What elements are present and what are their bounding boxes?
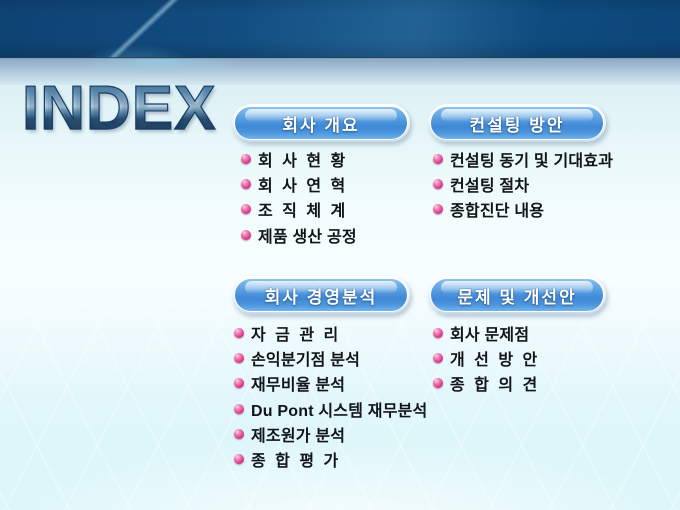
page-title: INDEX (22, 78, 216, 140)
section-heading-problems-improvements[interactable]: 문제 및 개선안 (428, 276, 606, 314)
list-item-label: 종 합 평 가 (251, 450, 341, 473)
bullet-sphere-icon (433, 378, 443, 388)
list-item-label: 컨설팅 동기 및 기대효과 (450, 150, 613, 173)
bullet-sphere-icon (234, 353, 244, 363)
list-item-label: 제품 생산 공정 (258, 226, 357, 249)
list-item-label: 재무비율 분석 (251, 374, 345, 397)
list-item-label: 회사 문제점 (450, 324, 529, 347)
bullet-sphere-icon (241, 230, 251, 240)
bullet-sphere-icon (433, 328, 443, 338)
top-banner (0, 0, 680, 58)
bullet-sphere-icon (433, 353, 443, 363)
list-item[interactable]: 컨설팅 동기 및 기대효과 (433, 150, 613, 173)
pill-inner: 회사 개요 (234, 106, 408, 140)
bullet-sphere-icon (234, 404, 244, 414)
bullet-sphere-icon (241, 154, 251, 164)
section-heading-company-overview[interactable]: 회사 개요 (232, 104, 410, 142)
pill-inner: 문제 및 개선안 (430, 278, 604, 312)
bullet-sphere-icon (234, 328, 244, 338)
list-item[interactable]: 손익분기점 분석 (234, 349, 427, 372)
banner-sheen (240, 0, 540, 58)
pill-inner: 회사 경영분석 (234, 278, 408, 312)
list-item-label: 제조원가 분석 (251, 425, 345, 448)
banner-glow (52, 18, 222, 58)
list-item[interactable]: 재무비율 분석 (234, 374, 427, 397)
list-item-label: 회 사 현 황 (258, 150, 348, 173)
list-item-label: 종합진단 내용 (450, 200, 544, 223)
list-item[interactable]: 컨설팅 절차 (433, 175, 613, 198)
section-list-company-overview: 회 사 현 황 회 사 연 혁 조 직 체 계 제품 생산 공정 (241, 150, 357, 251)
section-heading-label: 회사 경영분석 (265, 283, 378, 308)
bullet-sphere-icon (241, 204, 251, 214)
list-item[interactable]: Du Pont 시스템 재무분석 (234, 400, 427, 423)
bullet-sphere-icon (234, 429, 244, 439)
section-heading-label: 문제 및 개선안 (457, 283, 576, 308)
list-item-label: 자 금 관 리 (251, 324, 341, 347)
slide-canvas: INDEX 회사 개요 회 사 현 황 회 사 연 혁 조 직 체 계 제품 생… (0, 0, 680, 510)
list-item-label: 손익분기점 분석 (251, 349, 360, 372)
list-item-label: 종 합 의 견 (450, 374, 540, 397)
pill-inner: 컨설팅 방안 (430, 106, 604, 140)
bullet-sphere-icon (433, 154, 443, 164)
list-item[interactable]: 회 사 현 황 (241, 150, 357, 173)
list-item[interactable]: 종 합 평 가 (234, 450, 427, 473)
list-item[interactable]: 종 합 의 견 (433, 374, 540, 397)
list-item-label: 회 사 연 혁 (258, 175, 348, 198)
list-item-label: Du Pont 시스템 재무분석 (251, 400, 427, 423)
list-item[interactable]: 제품 생산 공정 (241, 226, 357, 249)
bullet-sphere-icon (433, 204, 443, 214)
section-list-consulting-plan: 컨설팅 동기 및 기대효과 컨설팅 절차 종합진단 내용 (433, 150, 613, 226)
list-item[interactable]: 자 금 관 리 (234, 324, 427, 347)
list-item-label: 개 선 방 안 (450, 349, 540, 372)
section-heading-consulting-plan[interactable]: 컨설팅 방안 (428, 104, 606, 142)
section-list-problems-improvements: 회사 문제점 개 선 방 안 종 합 의 견 (433, 324, 540, 400)
bullet-sphere-icon (234, 378, 244, 388)
bullet-sphere-icon (234, 454, 244, 464)
list-item[interactable]: 제조원가 분석 (234, 425, 427, 448)
bullet-sphere-icon (433, 179, 443, 189)
list-item[interactable]: 개 선 방 안 (433, 349, 540, 372)
list-item[interactable]: 회사 문제점 (433, 324, 540, 347)
section-heading-label: 컨설팅 방안 (470, 111, 565, 136)
list-item[interactable]: 종합진단 내용 (433, 200, 613, 223)
list-item[interactable]: 회 사 연 혁 (241, 175, 357, 198)
section-heading-label: 회사 개요 (282, 111, 359, 136)
section-list-management-analysis: 자 금 관 리 손익분기점 분석 재무비율 분석 Du Pont 시스템 재무분… (234, 324, 427, 475)
list-item-label: 컨설팅 절차 (450, 175, 529, 198)
bullet-sphere-icon (241, 179, 251, 189)
list-item-label: 조 직 체 계 (258, 200, 348, 223)
section-heading-management-analysis[interactable]: 회사 경영분석 (232, 276, 410, 314)
list-item[interactable]: 조 직 체 계 (241, 200, 357, 223)
